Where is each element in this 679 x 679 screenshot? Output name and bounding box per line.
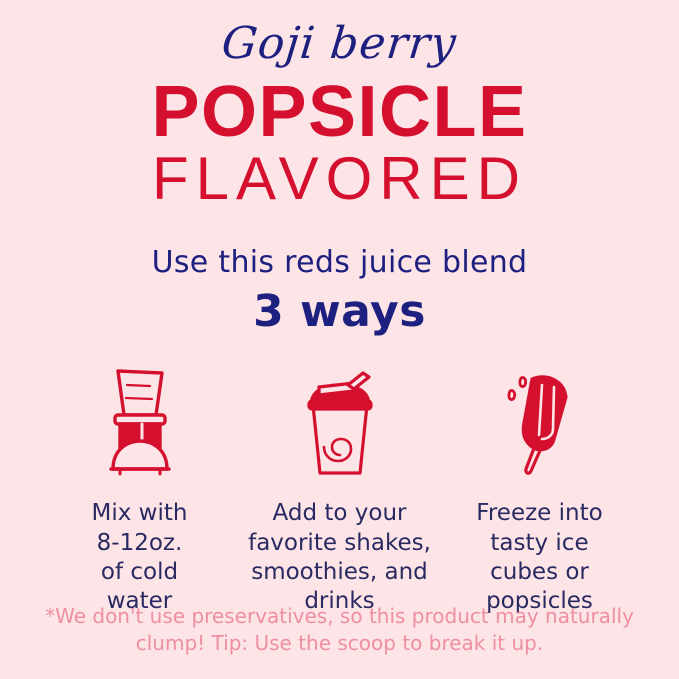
popsicle-icon-wrap: [480, 361, 600, 481]
script-title: Goji berry: [220, 22, 459, 66]
shaker-bottle-icon: [280, 361, 400, 481]
popsicle-icon: [480, 361, 600, 481]
usage-column-shaker: Add to your favorite shakes, smoothies, …: [240, 361, 440, 617]
usage-caption: Mix with 8-12oz. of cold water: [92, 499, 188, 617]
page-subtitle: FLAVORED: [152, 149, 527, 209]
usage-column-popsicle: Freeze into tasty ice cubes or popsicles: [440, 361, 640, 617]
shaker-bottle-icon-wrap: [280, 361, 400, 481]
footnote-disclaimer: *We don't use preservatives, so this pro…: [0, 603, 679, 657]
usage-column-blender: Mix with 8-12oz. of cold water: [40, 361, 240, 617]
usage-caption: Add to your favorite shakes, smoothies, …: [248, 499, 431, 617]
usage-ways: 3 ways: [253, 286, 426, 337]
product-infographic: Goji berry POPSICLE FLAVORED Use this re…: [0, 0, 679, 679]
page-title: POPSICLE: [151, 78, 527, 147]
usage-lede: Use this reds juice blend: [152, 245, 528, 280]
blender-icon-wrap: [80, 361, 200, 481]
blender-icon: [80, 361, 200, 481]
usage-caption: Freeze into tasty ice cubes or popsicles: [476, 499, 602, 617]
usage-columns: Mix with 8-12oz. of cold water: [0, 361, 679, 617]
